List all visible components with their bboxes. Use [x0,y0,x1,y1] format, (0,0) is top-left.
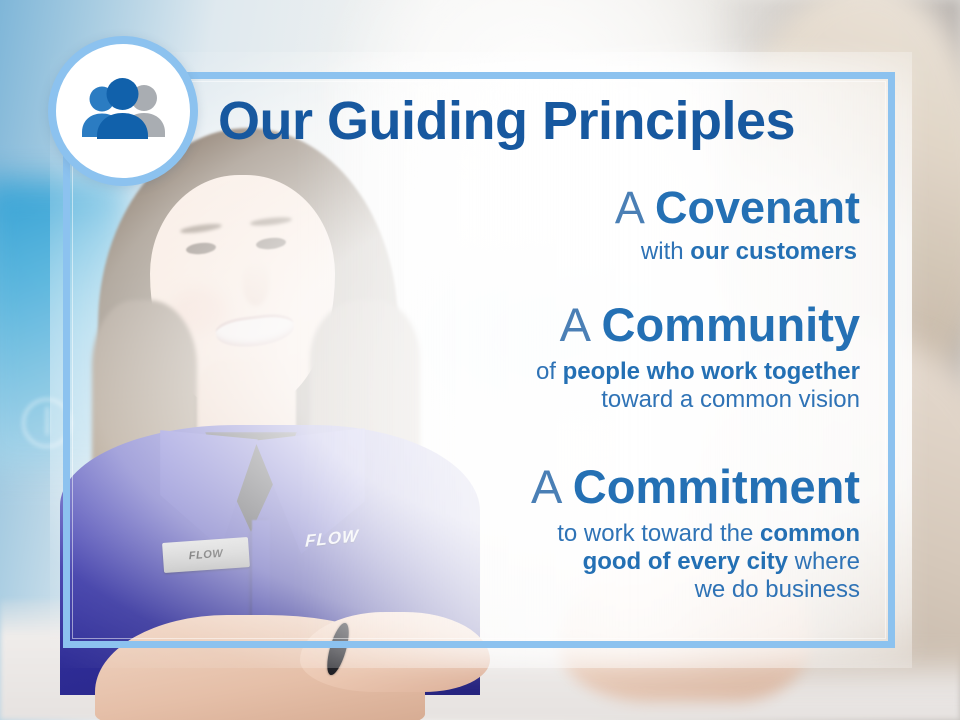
principle-subtext-line: of people who work together [200,358,860,386]
guiding-principles-graphic: FLOW FLOW Our Guiding Principles [0,0,960,720]
principle-keyword: Commitment [573,460,860,513]
principle-subtext-plain: where [788,548,860,575]
people-group-icon-badge [48,36,198,186]
principle-subtext-line: good of every city where [200,548,860,576]
page-title: Our Guiding Principles [218,94,878,148]
principle-keyword: Covenant [655,182,860,233]
people-group-icon [75,75,171,147]
principle-covenant-heading: A Covenant [200,184,860,232]
principle-community-heading: A Community [200,300,860,350]
principle-commitment-subtext: to work toward the commongood of every c… [200,520,860,605]
principle-covenant-subtext: with our customers [200,238,857,266]
principle-subtext-plain: to work toward the [557,520,760,547]
principle-subtext-plain: of [536,358,563,385]
principle-subtext-emphasis: our customers [690,238,857,265]
vw-roundel-logo [22,398,72,448]
principle-covenant: A Covenant with our customers [200,184,860,266]
principle-article: A [560,298,602,351]
principle-subtext-line: toward a common vision [200,386,860,414]
principle-community-subtext: of people who work togethertoward a comm… [200,358,860,415]
principle-keyword: Community [602,298,861,351]
principle-subtext-plain: toward a common vision [601,386,860,413]
principle-subtext-plain: with [641,238,690,265]
principle-subtext-line: we do business [200,576,860,604]
principle-commitment-heading: A Commitment [200,462,860,512]
principle-subtext-emphasis: good of every city [583,548,788,575]
principle-commitment: A Commitment to work toward the commongo… [200,462,860,605]
principle-subtext-emphasis: people who work together [563,358,860,385]
principle-subtext-plain: we do business [695,576,860,603]
principle-subtext-emphasis: common [760,520,860,547]
principle-subtext-line: with our customers [200,238,857,266]
principle-subtext-line: to work toward the common [200,520,860,548]
principle-article: A [615,182,655,233]
principle-community: A Community of people who work togethert… [200,300,860,414]
principle-article: A [531,460,573,513]
